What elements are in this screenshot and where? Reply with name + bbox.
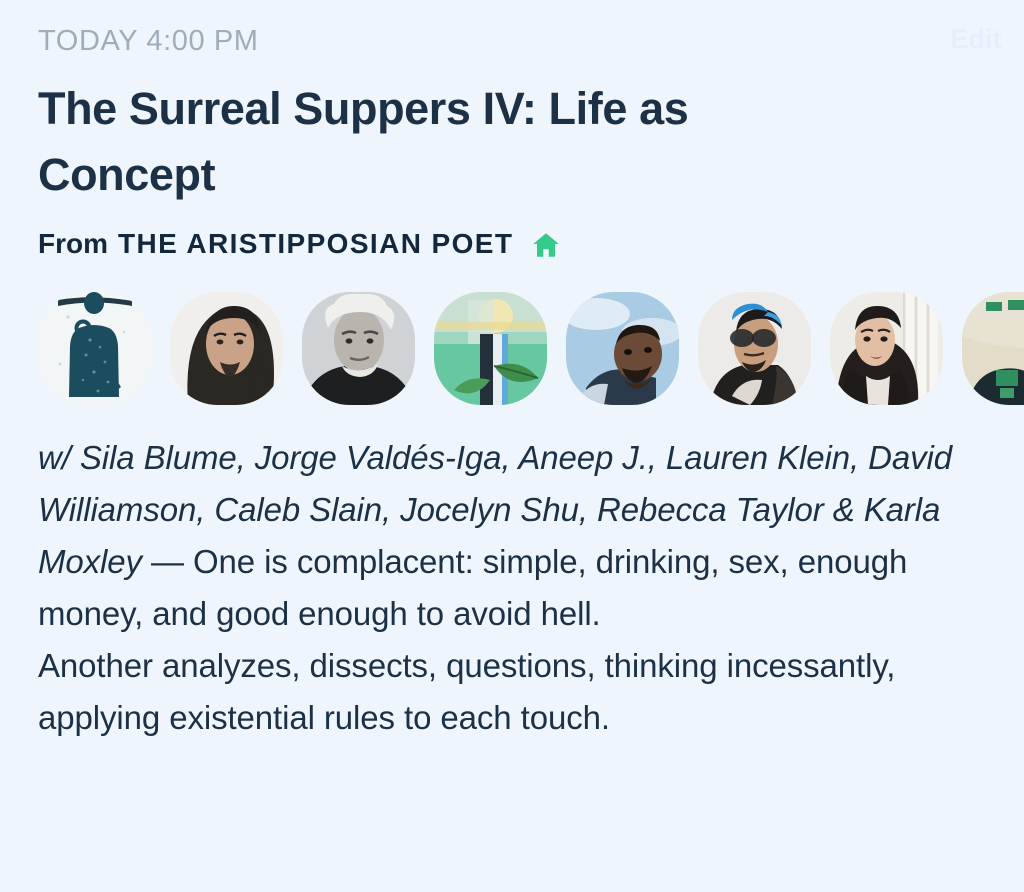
speaker-avatar-strip[interactable] xyxy=(38,292,1024,410)
avatar[interactable] xyxy=(962,292,1024,405)
description-paragraph-1: w/ Sila Blume, Jorge Valdés-Iga, Aneep J… xyxy=(38,432,968,640)
event-byline[interactable]: From THE ARISTIPPOSIAN POET xyxy=(38,229,964,260)
event-description: w/ Sila Blume, Jorge Valdés-Iga, Aneep J… xyxy=(38,432,968,744)
avatar-image-caleb-slain xyxy=(698,292,811,405)
avatar-image-lauren-klein xyxy=(434,292,547,405)
avatar-image-sila-blume xyxy=(38,292,151,405)
event-card-screen: Edit TODAY 4:00 PM The Surreal Suppers I… xyxy=(0,0,1024,892)
event-time-label: TODAY 4:00 PM xyxy=(38,26,964,58)
avatar[interactable] xyxy=(302,292,415,405)
host-name-label[interactable]: THE ARISTIPPOSIAN POET xyxy=(118,229,513,260)
event-header: TODAY 4:00 PM The Surreal Suppers IV: Li… xyxy=(38,26,964,260)
avatar-image-david-williamson xyxy=(566,292,679,405)
avatar[interactable] xyxy=(830,292,943,405)
byline-prefix-label: From xyxy=(38,229,108,260)
avatar[interactable] xyxy=(566,292,679,405)
avatar[interactable] xyxy=(698,292,811,405)
avatar[interactable] xyxy=(170,292,283,405)
description-paragraph-2: Another analyzes, dissects, questions, t… xyxy=(38,640,968,744)
avatar-image-rebecca-taylor xyxy=(962,292,1024,405)
avatar-image-jorge-valdes-iga xyxy=(170,292,283,405)
avatar-image-aneep-j xyxy=(302,292,415,405)
avatar[interactable] xyxy=(434,292,547,405)
house-icon xyxy=(531,230,561,260)
avatar[interactable] xyxy=(38,292,151,405)
page-title: The Surreal Suppers IV: Life as Concept xyxy=(38,76,718,207)
description-text-1: — One is complacent: simple, drinking, s… xyxy=(38,543,907,632)
avatar-image-jocelyn-shu xyxy=(830,292,943,405)
